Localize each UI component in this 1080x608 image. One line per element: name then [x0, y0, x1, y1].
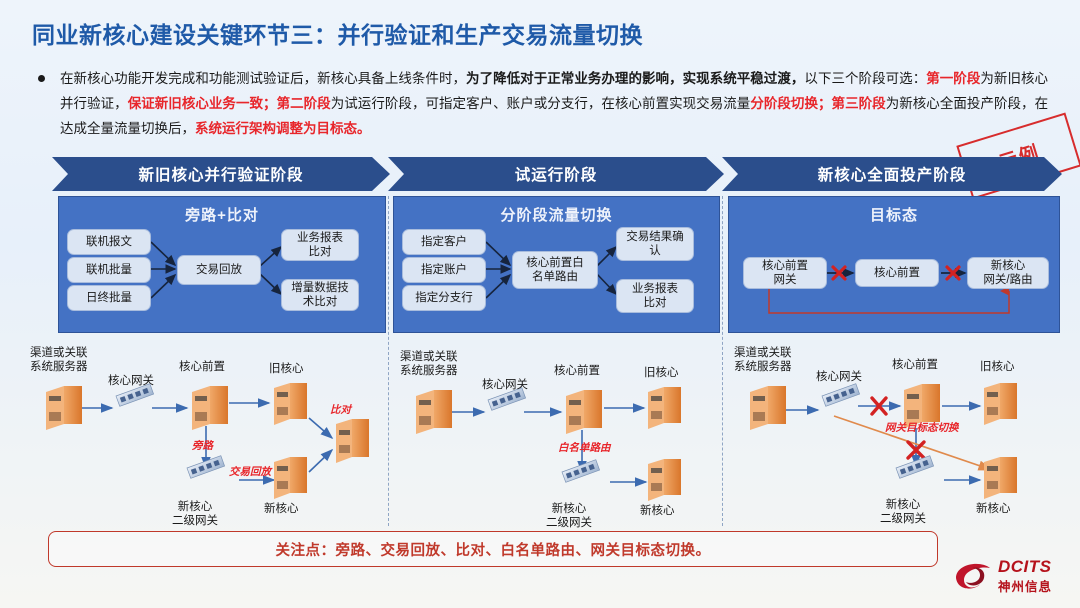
intro-segment-1: 为了降低对于正常业务办理的影响，实现系统平稳过渡，: [466, 71, 804, 86]
phase-banner-3[interactable]: 新核心全面投产阶段: [722, 157, 1062, 191]
phase-banner-1-label: 新旧核心并行验证阶段: [138, 163, 303, 185]
gateway-icon-new-core-secondary: [562, 460, 600, 483]
phase3-node-1[interactable]: 核心前置网关: [743, 257, 827, 289]
phase1-label-old-core: 旧核心: [269, 362, 304, 376]
server-icon-new-core: [984, 457, 1017, 499]
dcits-logo: DCITS 神州信息: [950, 556, 1074, 600]
bullet-dot-icon: [38, 75, 45, 82]
phase2-label-frontend: 核心前置: [554, 364, 600, 378]
key-points-note-text: 关注点：旁路、交易回放、比对、白名单路由、网关目标态切换。: [276, 539, 711, 560]
phase3-node-2[interactable]: 核心前置: [855, 259, 939, 287]
server-icon-source: [46, 386, 82, 430]
phase3-label-gateway: 核心网关: [816, 370, 862, 384]
server-icon-source: [750, 386, 786, 430]
intro-segment-6: 第二阶段: [277, 96, 331, 111]
server-icon-old-core: [274, 383, 307, 425]
server-icon-new-core: [648, 459, 681, 501]
intro-segment-8: 分阶段切换；: [750, 96, 831, 111]
dcits-swoosh-icon: [950, 556, 996, 596]
phase1-label-gateway: 核心网关: [108, 374, 154, 388]
phase2-input-2[interactable]: 指定账户: [402, 257, 486, 283]
phase2-output-1[interactable]: 交易结果确认: [616, 227, 694, 261]
phase-banner-1[interactable]: 新旧核心并行验证阶段: [52, 157, 390, 191]
phase3-annotation-gateway-switch: 网关目标态切换: [885, 422, 959, 434]
phase1-input-3[interactable]: 日终批量: [67, 285, 151, 311]
phase2-architecture-diagram: 渠道或关联系统服务器 核心网关 核心前置 旧核心 新核心二级网关 新核心 白名单…: [396, 340, 718, 530]
phase1-label-source: 渠道或关联系统服务器: [30, 346, 88, 374]
server-icon-source: [416, 390, 452, 434]
phase1-architecture-diagram: 渠道或关联系统服务器 核心网关 核心前置 旧核心 新核心二级网关 新核心 比对 …: [24, 340, 384, 530]
intro-segment-0: 在新核心功能开发完成和功能测试验证后，新核心具备上线条件时，: [60, 71, 466, 86]
phase3-label-new-core: 新核心: [976, 502, 1011, 516]
dcits-logo-cn: 神州信息: [998, 576, 1052, 595]
phase1-annotation-replay: 交易回放: [229, 466, 271, 478]
phase3-architecture-diagram: 渠道或关联系统服务器 核心网关 核心前置 旧核心 新核心二级网关 新核心 网关目…: [730, 340, 1060, 530]
server-icon-new-core: [274, 457, 307, 499]
phase1-label-new-core: 新核心: [264, 502, 299, 516]
intro-segment-2: 以下三个阶段可选：: [804, 71, 926, 86]
phase1-input-2[interactable]: 联机批量: [67, 257, 151, 283]
phase2-output-2[interactable]: 业务报表比对: [616, 279, 694, 313]
phase2-label-source: 渠道或关联系统服务器: [400, 350, 458, 378]
phase3-label-source: 渠道或关联系统服务器: [734, 346, 792, 374]
phase1-annotation-bypass: 旁路: [192, 440, 213, 452]
phase3-label-new-gateway: 新核心二级网关: [880, 498, 926, 526]
phase-banner-2[interactable]: 试运行阶段: [388, 157, 724, 191]
server-icon-frontend: [192, 386, 228, 430]
phase2-label-new-gateway: 新核心二级网关: [546, 502, 592, 530]
intro-segment-5: 保证新旧核心业务一致；: [128, 96, 277, 111]
phase1-input-1[interactable]: 联机报文: [67, 229, 151, 255]
phase2-label-gateway: 核心网关: [482, 378, 528, 392]
phase1-output-1[interactable]: 业务报表比对: [281, 229, 359, 261]
phase3-label-old-core: 旧核心: [980, 360, 1015, 374]
phase2-annotation-whitelist: 白名单路由: [558, 442, 611, 454]
phase2-label-old-core: 旧核心: [644, 366, 679, 380]
phase-banner-3-label: 新核心全面投产阶段: [818, 163, 967, 185]
server-icon-frontend: [566, 390, 602, 434]
phase2-flow-panel: 分阶段流量切换 指定客户 指定账户 指定分支行 核心前置白名单路由 交易结果确认…: [393, 196, 720, 333]
phase2-input-1[interactable]: 指定客户: [402, 229, 486, 255]
phase3-node-3[interactable]: 新核心网关/路由: [967, 257, 1049, 289]
server-icon-old-core: [648, 387, 681, 429]
key-points-note: 关注点：旁路、交易回放、比对、白名单路由、网关目标态切换。: [48, 531, 938, 567]
gateway-icon-new-core-secondary: [896, 456, 934, 479]
intro-segment-7: 为试运行阶段，可指定客户、账户或分支行，在核心前置实现交易流量: [331, 96, 751, 111]
phase3-label-frontend: 核心前置: [892, 358, 938, 372]
phase1-hub[interactable]: 交易回放: [177, 255, 261, 285]
phase2-input-3[interactable]: 指定分支行: [402, 285, 486, 311]
phase1-label-new-gateway: 新核心二级网关: [172, 500, 218, 528]
page-title: 同业新核心建设关键环节三：并行验证和生产交易流量切换: [32, 16, 643, 50]
server-icon-old-core: [984, 383, 1017, 425]
column-divider-2: [722, 196, 723, 526]
phase3-flow-panel: 目标态 核心前置网关 核心前置 新核心网关/路由: [728, 196, 1060, 333]
phase1-label-frontend: 核心前置: [179, 360, 225, 374]
phase-banner-2-label: 试运行阶段: [515, 163, 598, 185]
dcits-logo-en: DCITS: [998, 557, 1052, 577]
intro-segment-9: 第三阶段: [832, 96, 886, 111]
column-divider-1: [388, 196, 389, 526]
intro-paragraph-text: 在新核心功能开发完成和功能测试验证后，新核心具备上线条件时，为了降低对于正常业务…: [60, 66, 1048, 141]
phase2-hub[interactable]: 核心前置白名单路由: [512, 251, 598, 289]
phase1-flow-panel: 旁路+比对 联机报文 联机批量 日终批量 交易回放 业务报表比对 增量数据技术比…: [58, 196, 386, 333]
intro-paragraph-block: 在新核心功能开发完成和功能测试验证后，新核心具备上线条件时，为了降低对于正常业务…: [38, 66, 1048, 141]
phase1-label-compare: 比对: [330, 404, 351, 416]
server-icon-compare: [336, 419, 369, 463]
phase2-label-new-core: 新核心: [640, 504, 675, 518]
gateway-icon-core: [822, 384, 860, 407]
phase1-output-2[interactable]: 增量数据技术比对: [281, 279, 359, 311]
intro-segment-3: 第一阶段: [926, 71, 980, 86]
intro-segment-11: 系统运行架构调整为目标态。: [195, 121, 371, 136]
